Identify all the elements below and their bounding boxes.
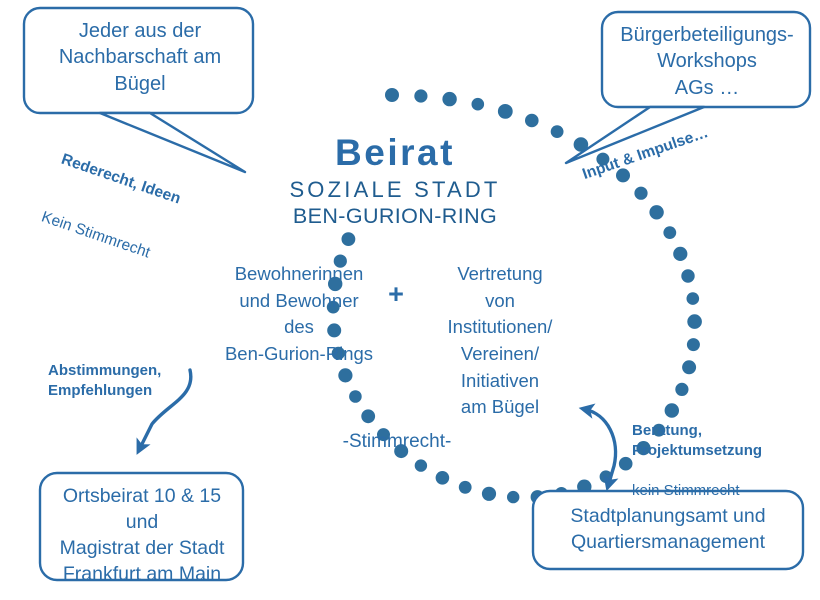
diagram-canvas: Jeder aus der Nachbarschaft am Bügel Bür… [0, 0, 820, 600]
caption-abstimmungen: Abstimmungen, Empfehlungen [48, 361, 198, 401]
box-bottom-left-text: Ortsbeirat 10 & 15 und Magistrat der Sta… [42, 483, 242, 588]
caption-beratung-bold: Beratung, Projektumsetzung [632, 421, 802, 461]
arrow-stadtplanungsamt [584, 409, 616, 486]
voting-right-note: -Stimmrecht- [322, 430, 472, 454]
subtitle-soziale-stadt: SOZIALE STADT [268, 176, 522, 204]
plus-icon: + [381, 277, 411, 311]
box-bottom-right-text: Stadtplanungsamt und Quartiersmanagement [535, 503, 801, 555]
caption-rederecht-bold: Rederecht, Ideen [58, 150, 183, 210]
subtitle-ben-gurion-ring: BEN-GURION-RING [268, 203, 522, 230]
caption-beratung-regular: kein Stimmrecht [632, 481, 802, 501]
column-institutions: Vertretung von Institutionen/ Vereinen/ … [425, 261, 575, 421]
bubble-top-right-text: Bürgerbeteiligungs- Workshops AGs … [604, 22, 810, 101]
page-title: Beirat [270, 130, 520, 177]
bubble-top-left-text: Jeder aus der Nachbarschaft am Bügel [34, 18, 246, 97]
column-residents: Bewohnerinnen und Bewohner des Ben-Gurio… [210, 261, 388, 368]
caption-rederecht-regular: Kein Stimmrecht [39, 207, 164, 267]
